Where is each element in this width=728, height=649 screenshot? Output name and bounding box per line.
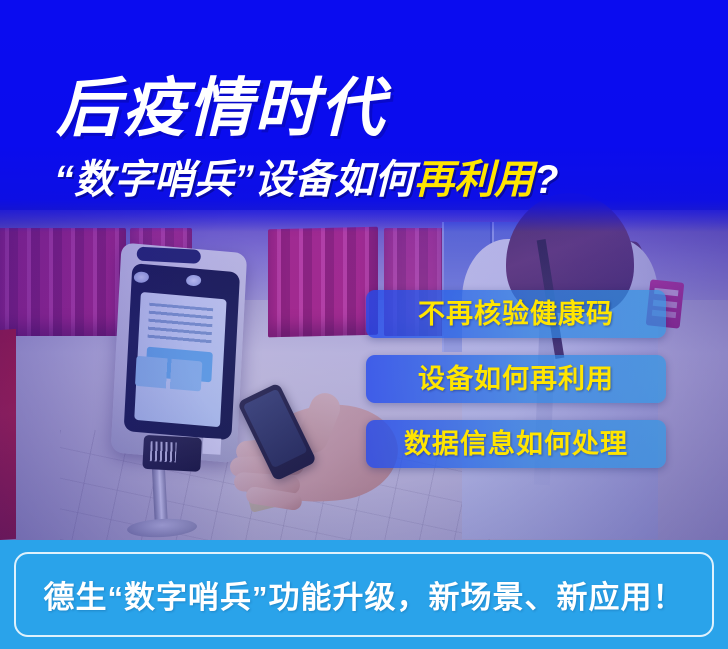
subtitle-highlight: 再利用 [414,158,534,202]
feature-list: 不再核验健康码 设备如何再利用 数据信息如何处理 [366,290,666,468]
bottom-banner: 德生“数字哨兵”功能升级，新场景、新应用！ [0,540,728,649]
page-subtitle: “数字哨兵”设备如何再利用? [54,159,676,201]
feature-item-1[interactable]: 不再核验健康码 [366,290,666,338]
subtitle-prefix: “数字哨兵”设备如何 [54,158,414,202]
feature-item-label: 不再核验健康码 [418,301,614,328]
poster-canvas: 后疫情时代 “数字哨兵”设备如何再利用? 不再核验健康码 设备如何再利用 数据信… [0,0,728,649]
headline-block: 后疫情时代 “数字哨兵”设备如何再利用? [56,76,676,201]
feature-item-3[interactable]: 数据信息如何处理 [366,420,666,468]
banner-text: 德生“数字哨兵”功能升级，新场景、新应用！ [44,572,685,617]
feature-item-2[interactable]: 设备如何再利用 [366,355,666,403]
page-title: 后疫情时代 [56,76,676,141]
feature-item-label: 数据信息如何处理 [404,431,628,458]
feature-item-label: 设备如何再利用 [418,366,614,393]
subtitle-suffix: ? [534,158,558,202]
